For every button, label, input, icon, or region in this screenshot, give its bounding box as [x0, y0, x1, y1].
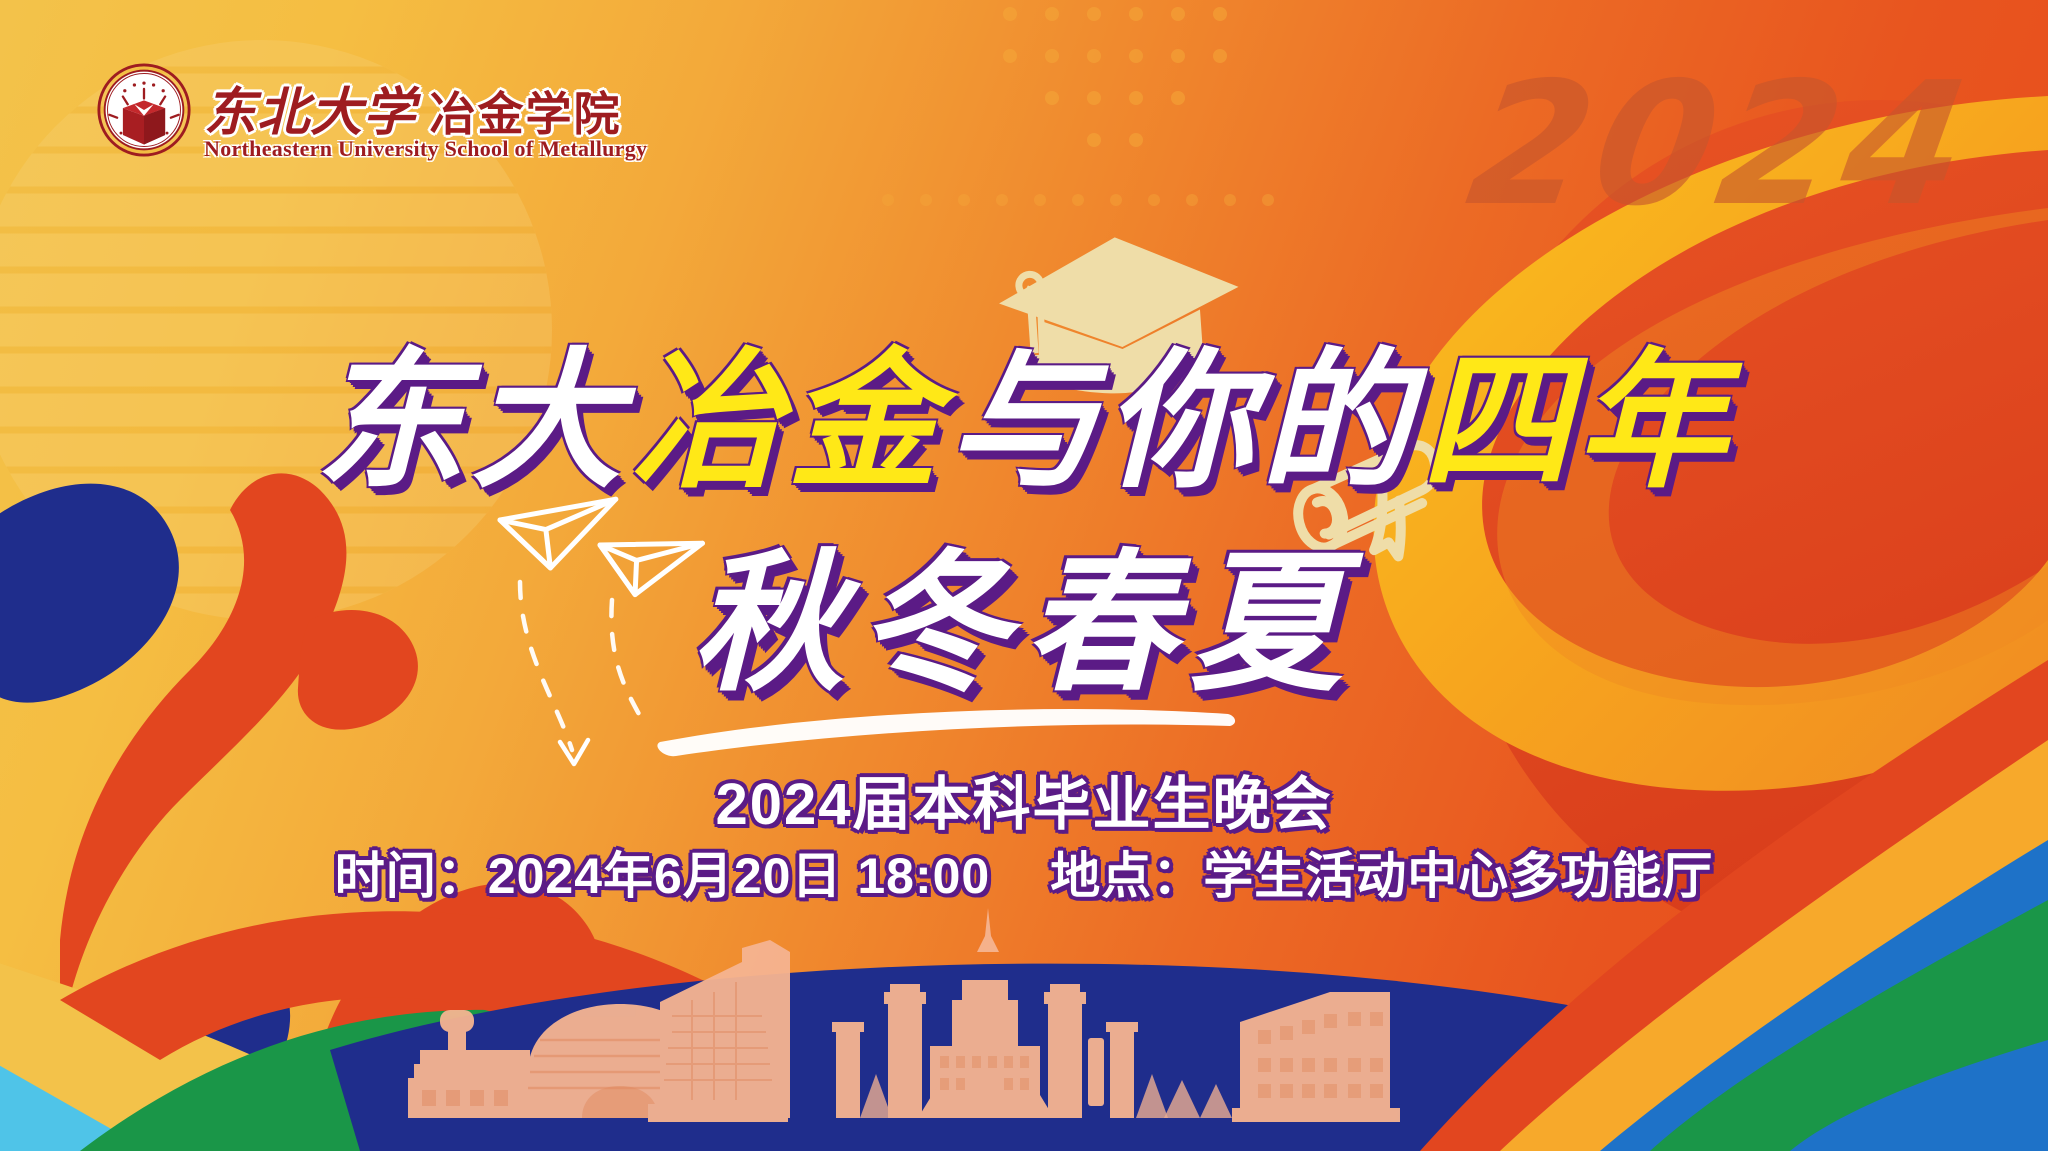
event-meta: 时间：2024年6月20日 18:00地点：学生活动中心多功能厅	[0, 836, 2048, 908]
headline-part-yunide: 与你的	[948, 300, 1416, 517]
event-place-value: 学生活动中心多功能厅	[1203, 848, 1713, 904]
event-title: 2024届本科毕业生晚会	[0, 757, 2048, 841]
headline-seasons: 秋冬春夏	[692, 500, 1356, 720]
event-place-label: 地点：	[1050, 848, 1203, 904]
headline-part-dongda: 东大	[315, 300, 627, 517]
headline-secondary: 秋冬春夏	[0, 500, 2048, 720]
headline-part-yejin: 冶金	[632, 300, 944, 517]
event-time-value: 2024年6月20日 18:00	[488, 848, 990, 904]
headline-primary: 东大 冶金 与你的 四年	[0, 300, 2048, 517]
graduation-poster: 东北大学 冶金学院 Northeastern University School…	[0, 0, 2048, 1151]
event-time-label: 时间：	[335, 848, 488, 904]
headline-part-sinian: 四年	[1421, 300, 1733, 517]
